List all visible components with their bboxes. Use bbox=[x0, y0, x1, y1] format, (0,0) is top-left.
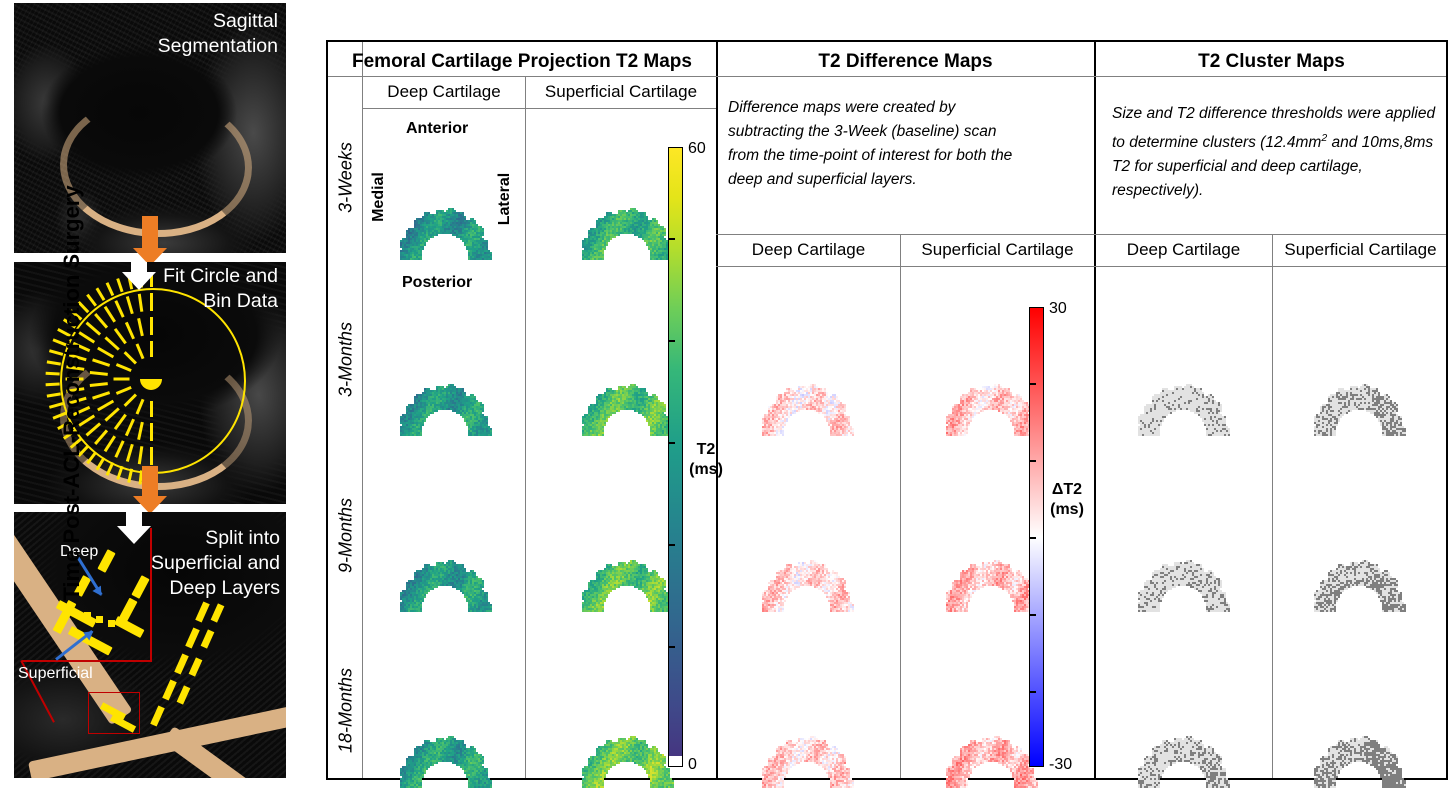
bin-segment bbox=[150, 423, 153, 441]
colorbar-tick bbox=[1030, 383, 1036, 385]
bin-segment bbox=[113, 328, 126, 344]
bin-segment bbox=[94, 313, 108, 329]
grid-hline bbox=[716, 234, 1446, 235]
row-label-3-months: 3-Months bbox=[336, 312, 357, 408]
bin-segment bbox=[89, 371, 107, 376]
dt2-colorbar-title-line1: ΔT2 bbox=[1038, 480, 1096, 500]
dt2-colorbar bbox=[1029, 307, 1044, 767]
map-diff-deep-3months bbox=[748, 314, 866, 446]
map-t2-deep-18months bbox=[386, 666, 504, 798]
grid-hline bbox=[716, 266, 1446, 267]
pipeline-arrow-2 bbox=[133, 466, 167, 514]
axis-title-time-post-surgery: Time Post-ACL-Reconstruction Surgery bbox=[59, 113, 85, 673]
colorbar-tick bbox=[669, 544, 675, 546]
t2-colorbar-zero-block bbox=[669, 756, 682, 766]
bin-segment bbox=[85, 422, 101, 436]
bin-segment bbox=[135, 343, 144, 359]
bin-segment bbox=[137, 422, 144, 440]
fit-circle-label: Fit Circle and Bin Data bbox=[88, 264, 278, 314]
map-diff-deep-9months bbox=[748, 490, 866, 622]
superficial-dot bbox=[84, 612, 91, 619]
bin-segment bbox=[97, 347, 114, 359]
bin-segment bbox=[114, 440, 124, 458]
pipeline-arrow-overlay bbox=[122, 262, 156, 290]
bin-segment bbox=[92, 358, 110, 366]
colorbar-tick bbox=[669, 340, 675, 342]
superficial-dot bbox=[96, 616, 103, 623]
bin-segment bbox=[97, 400, 114, 412]
colhdr-cluster-superficial: Superficial Cartilage bbox=[1273, 238, 1448, 262]
bin-segment bbox=[123, 351, 136, 364]
colorbar-tick bbox=[1030, 460, 1036, 462]
grid-vline bbox=[362, 42, 363, 778]
dt2-colorbar-title: ΔT2 (ms) bbox=[1038, 480, 1096, 520]
bin-segment bbox=[150, 317, 153, 335]
t2-cluster-note: Size and T2 difference thresholds were a… bbox=[1112, 102, 1436, 203]
t2-colorbar-title-line2: (ms) bbox=[680, 460, 732, 480]
map-cluster-superficial-18months bbox=[1300, 666, 1418, 798]
t2-colorbar-max-label: 60 bbox=[688, 140, 706, 158]
bin-segment bbox=[103, 435, 115, 452]
bin-segment bbox=[150, 401, 153, 417]
grid-hline bbox=[328, 76, 1446, 77]
map-diff-deep-18months bbox=[748, 666, 866, 798]
map-cluster-superficial-9months bbox=[1300, 490, 1418, 622]
colhdr-t2-deep: Deep Cartilage bbox=[363, 80, 525, 104]
bin-segment bbox=[85, 322, 101, 336]
t2-difference-note: Difference maps were created by subtract… bbox=[728, 96, 1028, 192]
callout-box-bottom bbox=[22, 660, 152, 662]
colorbar-tick bbox=[669, 238, 675, 240]
section-header-t2-cluster: T2 Cluster Maps bbox=[1095, 49, 1448, 75]
t2-colorbar-min-label: 0 bbox=[688, 756, 697, 774]
section-header-t2-maps: Femoral Cartilage Projection T2 Maps bbox=[328, 49, 716, 75]
dt2-colorbar-max-label: 30 bbox=[1049, 300, 1067, 318]
bin-segment bbox=[95, 457, 105, 471]
t2-colorbar-title: T2 (ms) bbox=[680, 440, 732, 480]
orientation-anterior: Anterior bbox=[406, 120, 468, 138]
colhdr-cluster-deep: Deep Cartilage bbox=[1095, 238, 1272, 262]
bin-segment bbox=[104, 407, 119, 421]
bin-segment bbox=[124, 322, 134, 340]
map-cluster-deep-3months bbox=[1124, 314, 1242, 446]
bin-segment bbox=[135, 399, 144, 415]
colhdr-t2-superficial: Superficial Cartilage bbox=[526, 80, 716, 104]
row-label-3-weeks: 3-Weeks bbox=[336, 136, 357, 220]
bin-segment bbox=[104, 336, 119, 350]
bin-segment bbox=[125, 444, 133, 462]
colhdr-diff-deep: Deep Cartilage bbox=[717, 238, 900, 262]
bin-segment bbox=[150, 341, 153, 357]
colorbar-tick bbox=[669, 646, 675, 648]
bin-segment bbox=[150, 447, 153, 465]
colorbar-tick bbox=[1030, 537, 1036, 539]
bin-segment bbox=[89, 382, 107, 387]
grid-vline bbox=[1272, 234, 1273, 778]
colorbar-tick bbox=[1030, 691, 1036, 693]
colhdr-diff-superficial: Superficial Cartilage bbox=[901, 238, 1094, 262]
map-cluster-deep-18months bbox=[1124, 666, 1242, 798]
bin-segment bbox=[115, 363, 131, 372]
map-t2-deep-3months bbox=[386, 314, 504, 446]
split-layers-image: Deep Superficial Split into Superficial … bbox=[14, 512, 286, 778]
bin-segment bbox=[137, 446, 143, 464]
bin-segment bbox=[86, 451, 97, 464]
angular-bin-overlay bbox=[60, 288, 242, 470]
grid-vline-major bbox=[1094, 42, 1096, 778]
row-label-18-months: 18-Months bbox=[336, 659, 357, 763]
orientation-posterior: Posterior bbox=[402, 274, 472, 292]
grid-vline bbox=[525, 76, 526, 778]
sagittal-segmentation-label: Sagittal Segmentation bbox=[88, 9, 278, 59]
section-header-t2-difference: T2 Difference Maps bbox=[717, 49, 1094, 75]
bin-center bbox=[140, 379, 162, 390]
colorbar-tick bbox=[1030, 614, 1036, 616]
row-label-9-months: 9-Months bbox=[336, 488, 357, 584]
superficial-dot bbox=[108, 620, 115, 627]
bin-segment bbox=[124, 419, 134, 437]
bin-segment bbox=[113, 414, 126, 430]
processing-pipeline: Sagittal Segmentation Fit Circle and Bin… bbox=[14, 0, 286, 782]
bin-segment bbox=[113, 378, 129, 381]
map-t2-deep-9months bbox=[386, 490, 504, 622]
split-layers-label: Split into Superficial and Deep Layers bbox=[84, 526, 280, 601]
bin-segment bbox=[92, 391, 110, 399]
colorbar-tick bbox=[669, 442, 675, 444]
grid-vline bbox=[900, 234, 901, 778]
pipeline-arrow-1 bbox=[133, 216, 167, 266]
grid-vline-major bbox=[716, 42, 718, 778]
bin-segment bbox=[115, 386, 131, 395]
bin-segment bbox=[94, 429, 108, 445]
dt2-colorbar-title-line2: (ms) bbox=[1038, 500, 1096, 520]
map-t2-deep-3weeks bbox=[386, 138, 504, 270]
t2-colorbar-title-line1: T2 bbox=[680, 440, 732, 460]
dt2-colorbar-min-label: -30 bbox=[1049, 756, 1072, 774]
pipeline-arrow-overlay-2 bbox=[117, 512, 151, 544]
bin-segment bbox=[137, 318, 144, 336]
grid-hline bbox=[362, 108, 716, 109]
map-cluster-superficial-3months bbox=[1300, 314, 1418, 446]
bin-segment bbox=[123, 393, 136, 406]
map-cluster-deep-9months bbox=[1124, 490, 1242, 622]
results-table: Femoral Cartilage Projection T2 Maps T2 … bbox=[326, 40, 1448, 780]
